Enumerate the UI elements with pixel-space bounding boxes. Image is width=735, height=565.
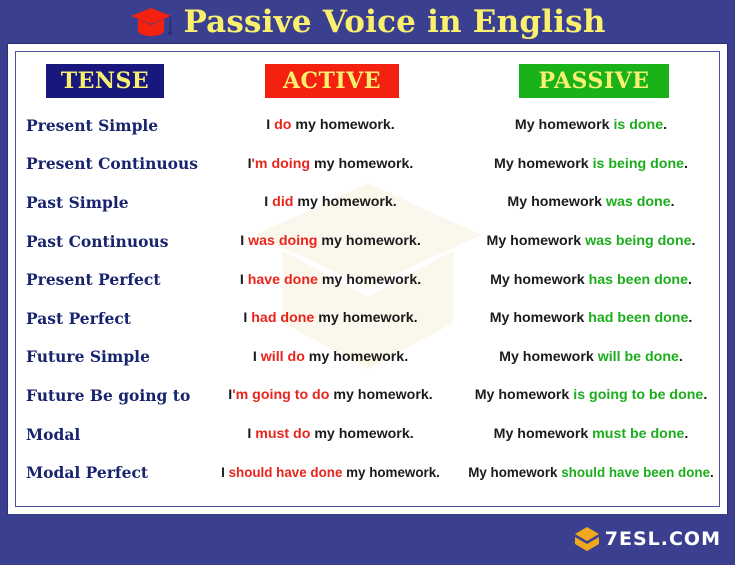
active-sentence: I had done my homework. [198, 310, 463, 326]
table-row: Modal I must do my homework. My homework… [16, 415, 719, 454]
active-prefix: I [253, 349, 261, 365]
tense-label: Present Perfect [16, 270, 198, 289]
active-sentence: I was doing my homework. [198, 233, 463, 249]
passive-verb: is being done [593, 156, 684, 172]
passive-suffix: . [688, 310, 692, 326]
active-verb: have done [248, 272, 318, 288]
tense-label: Present Continuous [16, 154, 198, 173]
brand-logo[interactable]: 7ESL.COM [574, 526, 721, 552]
7esl-logo-icon [574, 526, 600, 552]
active-sentence: I should have done my homework. [198, 465, 463, 480]
passive-verb: had been done [588, 310, 688, 326]
table-row: Present Simple I do my homework. My home… [16, 106, 719, 145]
active-prefix: I [264, 194, 272, 210]
table-row: Future Be going to I'm going to do my ho… [16, 376, 719, 415]
active-sentence: I'm going to do my homework. [198, 387, 463, 403]
table-row: Past Simple I did my homework. My homewo… [16, 183, 719, 222]
passive-sentence: My homework is going to be done. [463, 387, 719, 403]
passive-verb: will be done [598, 349, 679, 365]
footer-bar: 7ESL.COM [0, 514, 735, 565]
header-chip-passive: PASSIVE [519, 64, 669, 98]
passive-prefix: My homework [507, 194, 606, 210]
passive-suffix: . [671, 194, 675, 210]
passive-verb: was being done [585, 233, 691, 249]
passive-sentence: My homework is being done. [463, 156, 719, 172]
active-suffix: my homework. [318, 272, 421, 288]
passive-prefix: My homework [490, 310, 589, 326]
page-title: Passive Voice in English [183, 7, 605, 38]
passive-sentence: My homework was being done. [463, 233, 719, 249]
active-verb: will do [261, 349, 305, 365]
table-row: Future Simple I will do my homework. My … [16, 338, 719, 377]
active-verb: had done [251, 310, 314, 326]
active-verb: 'm doing [252, 156, 311, 172]
passive-prefix: My homework [487, 233, 586, 249]
active-suffix: my homework. [305, 349, 408, 365]
passive-sentence: My homework must be done. [463, 426, 719, 442]
tense-label: Past Continuous [16, 232, 198, 251]
active-suffix: my homework. [291, 117, 394, 133]
active-suffix: my homework. [310, 156, 413, 172]
table-row: Present Continuous I'm doing my homework… [16, 145, 719, 184]
tense-label: Future Be going to [16, 386, 198, 405]
active-suffix: my homework. [342, 465, 439, 480]
active-sentence: I do my homework. [198, 117, 463, 133]
passive-prefix: My homework [494, 426, 593, 442]
tense-label: Present Simple [16, 116, 198, 135]
active-sentence: I will do my homework. [198, 349, 463, 365]
tense-label: Past Perfect [16, 309, 198, 328]
brand-text: 7ESL.COM [605, 530, 721, 549]
passive-verb: should have been done [561, 465, 710, 480]
active-verb: should have done [229, 465, 343, 480]
passive-suffix: . [684, 426, 688, 442]
infographic-poster: Passive Voice in English TENSE ACTIVE PA… [0, 0, 735, 565]
passive-prefix: My homework [499, 349, 598, 365]
active-sentence: I must do my homework. [198, 426, 463, 442]
passive-prefix: My homework [468, 465, 561, 480]
table-row: Present Perfect I have done my homework.… [16, 260, 719, 299]
table-row: Past Continuous I was doing my homework.… [16, 222, 719, 261]
passive-verb: was done [606, 194, 671, 210]
active-sentence: I have done my homework. [198, 272, 463, 288]
tense-label: Past Simple [16, 193, 198, 212]
passive-prefix: My homework [490, 272, 589, 288]
active-suffix: my homework. [293, 194, 396, 210]
passive-verb: has been done [589, 272, 688, 288]
passive-suffix: . [684, 156, 688, 172]
passive-suffix: . [692, 233, 696, 249]
active-prefix: I [240, 272, 248, 288]
active-verb: did [272, 194, 293, 210]
passive-sentence: My homework will be done. [463, 349, 719, 365]
active-suffix: my homework. [329, 387, 432, 403]
table-card: TENSE ACTIVE PASSIVE Present Simple I do… [8, 44, 727, 514]
passive-verb: must be done [592, 426, 684, 442]
passive-prefix: My homework [515, 117, 614, 133]
tense-rows: Present Simple I do my homework. My home… [16, 106, 719, 492]
active-suffix: my homework. [317, 233, 420, 249]
column-headers: TENSE ACTIVE PASSIVE [16, 64, 719, 100]
active-verb: must do [255, 426, 310, 442]
passive-sentence: My homework was done. [463, 194, 719, 210]
passive-prefix: My homework [494, 156, 593, 172]
passive-sentence: My homework should have been done. [463, 465, 719, 480]
active-prefix: I [240, 233, 248, 249]
active-verb: do [274, 117, 291, 133]
active-prefix: I [221, 465, 228, 480]
table-row: Past Perfect I had done my homework. My … [16, 299, 719, 338]
header-chip-tense: TENSE [46, 64, 164, 98]
passive-sentence: My homework has been done. [463, 272, 719, 288]
active-verb: 'm going to do [232, 387, 329, 403]
passive-suffix: . [663, 117, 667, 133]
active-verb: was doing [248, 233, 317, 249]
active-prefix: I [266, 117, 274, 133]
passive-verb: is going to be done [573, 387, 703, 403]
passive-sentence: My homework is done. [463, 117, 719, 133]
tense-label: Modal Perfect [16, 463, 198, 482]
passive-prefix: My homework [475, 387, 574, 403]
passive-suffix: . [679, 349, 683, 365]
graduation-cap-icon [129, 6, 173, 40]
active-sentence: I'm doing my homework. [198, 156, 463, 172]
passive-sentence: My homework had been done. [463, 310, 719, 326]
title-bar: Passive Voice in English [0, 0, 735, 44]
passive-verb: is done [613, 117, 663, 133]
header-chip-active: ACTIVE [265, 64, 399, 98]
active-suffix: my homework. [314, 310, 417, 326]
passive-suffix: . [710, 465, 714, 480]
passive-suffix: . [688, 272, 692, 288]
table-card-inner: TENSE ACTIVE PASSIVE Present Simple I do… [15, 51, 720, 507]
active-sentence: I did my homework. [198, 194, 463, 210]
table-row: Modal Perfect I should have done my home… [16, 453, 719, 492]
tense-label: Modal [16, 425, 198, 444]
passive-suffix: . [703, 387, 707, 403]
active-suffix: my homework. [310, 426, 413, 442]
tense-label: Future Simple [16, 347, 198, 366]
